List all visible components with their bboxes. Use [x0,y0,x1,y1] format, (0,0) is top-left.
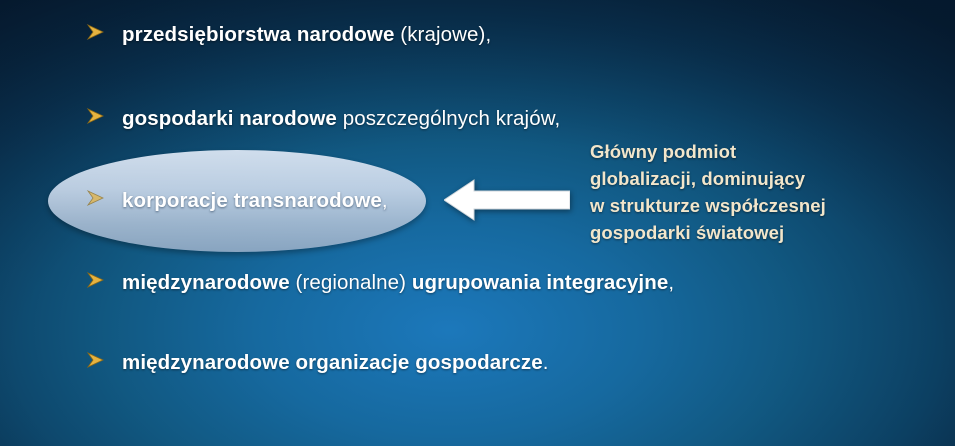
callout-line-1: Główny podmiot [590,138,920,165]
list-item-text: gospodarki narodowe poszczególnych krajó… [122,107,560,131]
list-item-bold: międzynarodowe organizacje gospodarcze [122,351,543,374]
list-item-rest: (krajowe), [394,23,491,46]
chevron-bullet-icon [86,190,122,206]
slide-canvas: przedsiębiorstwa narodowe (krajowe), gos… [0,0,955,446]
list-item-rest: , [668,271,674,294]
list-item: międzynarodowe organizacje gospodarcze. [86,351,549,375]
list-item-text: przedsiębiorstwa narodowe (krajowe), [122,23,491,47]
callout-text: Główny podmiot globalizacji, dominujący … [590,138,920,246]
list-item: międzynarodowe (regionalne) ugrupowania … [86,271,674,295]
chevron-bullet-icon [86,272,122,288]
list-item-bold: międzynarodowe [122,271,290,294]
list-item-bold: przedsiębiorstwa narodowe [122,23,394,46]
callout-line-3: w strukturze współczesnej [590,192,920,219]
chevron-bullet-icon [86,352,122,368]
list-item-rest: . [543,351,549,374]
list-item: przedsiębiorstwa narodowe (krajowe), [86,23,491,47]
list-item-highlighted: korporacje transnarodowe, [86,189,388,213]
callout-line-2: globalizacji, dominujący [590,165,920,192]
list-item-mid: (regionalne) [290,271,412,294]
list-item-rest: , [382,189,388,212]
list-item-text: korporacje transnarodowe, [122,189,388,213]
chevron-bullet-icon [86,24,122,40]
list-item-rest: poszczególnych krajów, [337,107,560,130]
list-item-bold: korporacje transnarodowe [122,189,382,212]
list-item-text: międzynarodowe (regionalne) ugrupowania … [122,271,674,295]
list-item-bold-tail: ugrupowania integracyjne [412,271,668,294]
list-item-text: międzynarodowe organizacje gospodarcze. [122,351,549,375]
chevron-bullet-icon [86,108,122,124]
left-block-arrow-icon [444,178,570,222]
list-item-bold: gospodarki narodowe [122,107,337,130]
callout-line-4: gospodarki światowej [590,219,920,246]
list-item: gospodarki narodowe poszczególnych krajó… [86,107,560,131]
